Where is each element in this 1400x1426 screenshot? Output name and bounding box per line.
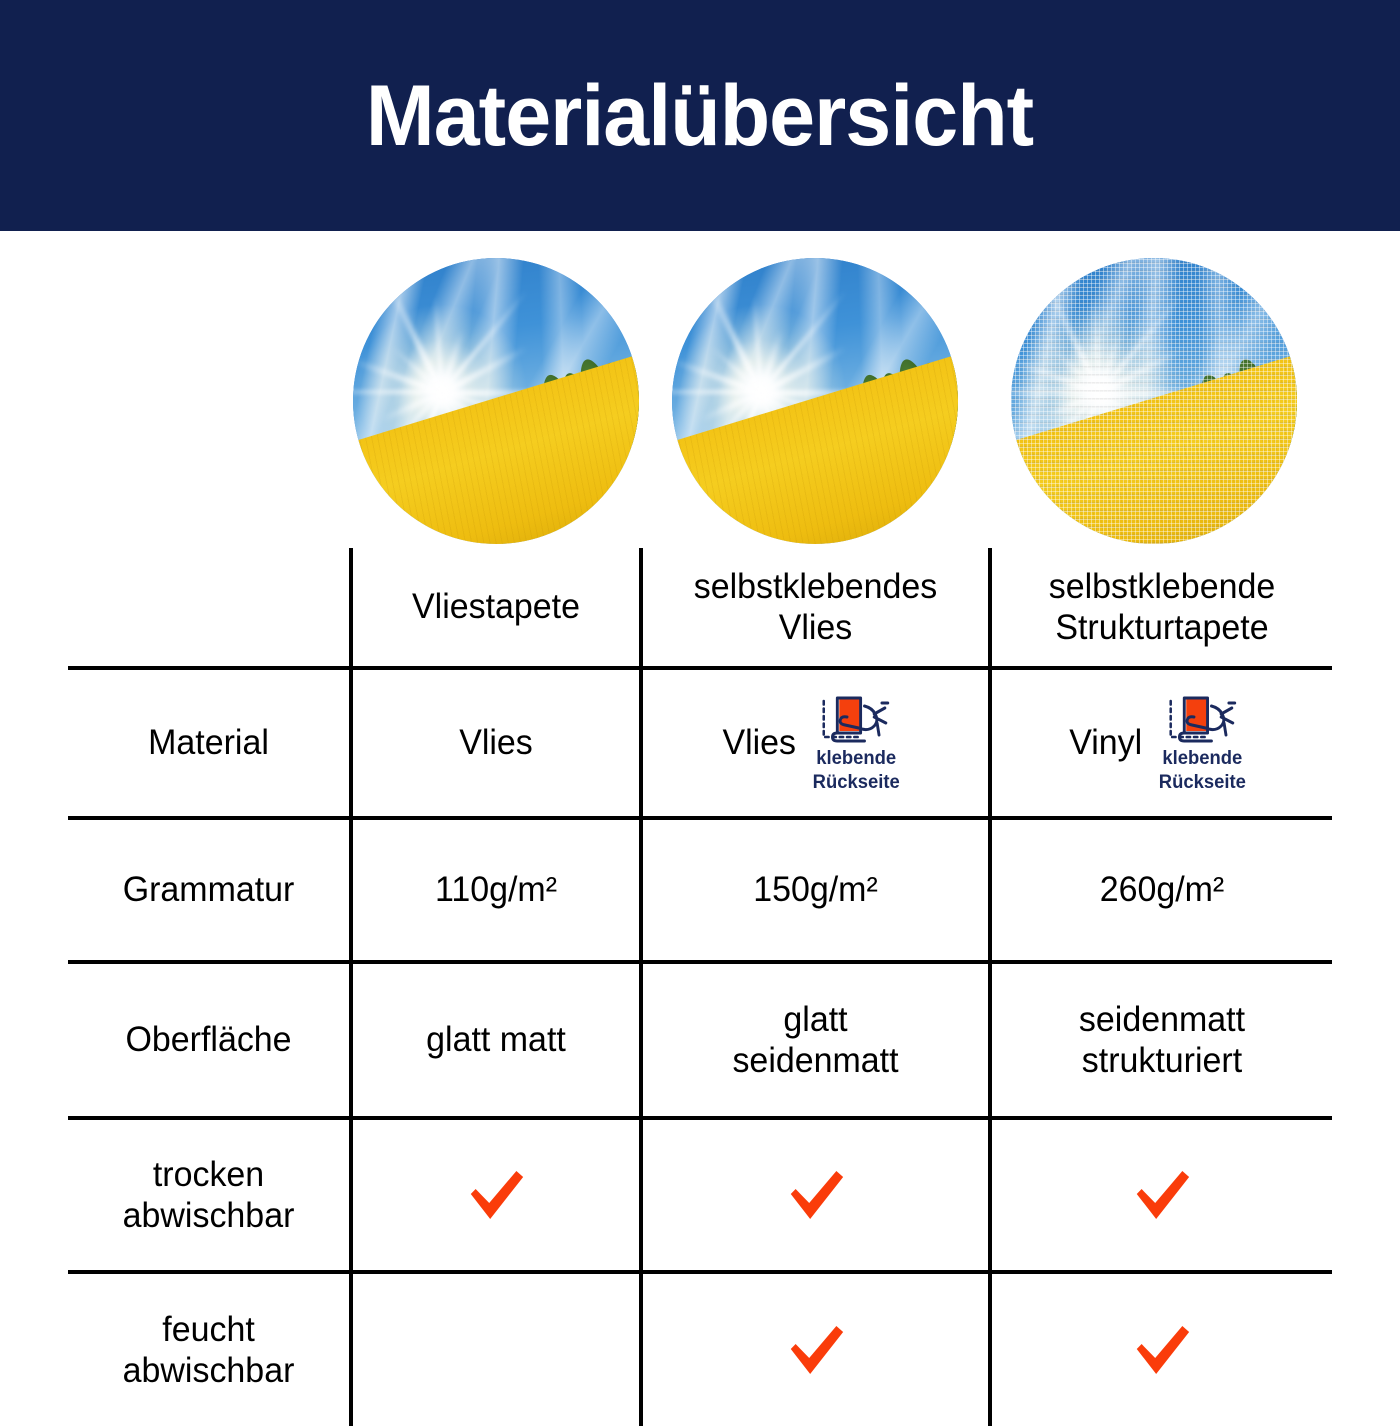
table-header-blank [72,548,347,668]
checkmark-icon [461,1165,531,1225]
peel-adhesive-backing-icon [818,693,894,745]
cell-oberflaeche-col2: glatt seidenmatt [646,962,985,1118]
checkmark-icon [781,1320,851,1380]
table-row: Material Vlies Vlies [68,668,1332,818]
row-label-material: Material [72,668,347,818]
peel-adhesive-backing-icon [1165,693,1241,745]
cell-grammatur-col1: 110g/m² [355,818,636,962]
material-overview-page: Materialübersicht [0,0,1400,1400]
cell-material-col3: Vinyl [995,668,1327,818]
table-header-selbstklebendes-vlies: selbstklebendes Vlies [646,548,985,668]
adhesive-badge-line1: klebende [1162,748,1242,769]
table-row: feucht abwischbar [68,1272,1332,1426]
preview-circles-row [0,258,1400,548]
cell-feucht-col1 [355,1272,636,1426]
cell-material-col2-text: Vlies [722,722,796,763]
preview-circle-selbstklebendes-vlies [672,258,958,544]
adhesive-badge-line2: Rückseite [1159,772,1246,793]
cell-material-col1: Vlies [355,668,636,818]
adhesive-badge-line1: klebende [816,748,896,769]
checkmark-icon [781,1165,851,1225]
cell-trocken-col1 [355,1118,636,1272]
adhesive-backing-badge: klebende Rückseite [804,693,909,794]
table-header-strukturtapete: selbstklebende Strukturtapete [995,548,1327,668]
cell-grammatur-col2: 150g/m² [646,818,985,962]
page-title: Materialübersicht [366,73,1033,159]
checkmark-icon [1127,1320,1197,1380]
row-label-grammatur: Grammatur [72,818,347,962]
adhesive-badge-line2: Rückseite [813,772,900,793]
cell-grammatur-col3: 260g/m² [995,818,1327,962]
cell-trocken-col2 [646,1118,985,1272]
table-row: Grammatur 110g/m² 150g/m² 260g/m² [68,818,1332,962]
cell-oberflaeche-col3: seidenmatt strukturiert [995,962,1327,1118]
row-label-trocken-abwischbar: trocken abwischbar [72,1118,347,1272]
material-comparison-table: Vliestapete selbstklebendes Vlies selbst… [68,548,1332,1400]
preview-circle-strukturtapete [1011,258,1297,544]
cell-feucht-col3 [995,1272,1327,1426]
cell-trocken-col3 [995,1118,1327,1272]
adhesive-backing-badge: klebende Rückseite [1150,693,1255,794]
header-banner: Materialübersicht [0,0,1400,231]
table-row: trocken abwischbar [68,1118,1332,1272]
table-header-vliestapete: Vliestapete [355,548,636,668]
row-label-feucht-abwischbar: feucht abwischbar [72,1272,347,1426]
cell-feucht-col2 [646,1272,985,1426]
checkmark-icon [1127,1165,1197,1225]
table-header-row: Vliestapete selbstklebendes Vlies selbst… [68,548,1332,668]
preview-circle-vliestapete [353,258,639,544]
row-label-oberflaeche: Oberfläche [72,962,347,1118]
cell-material-col2: Vlies [646,668,985,818]
table-row: Oberfläche glatt matt glatt seidenmatt s… [68,962,1332,1118]
cell-oberflaeche-col1: glatt matt [355,962,636,1118]
cell-material-col3-text: Vinyl [1069,722,1142,763]
